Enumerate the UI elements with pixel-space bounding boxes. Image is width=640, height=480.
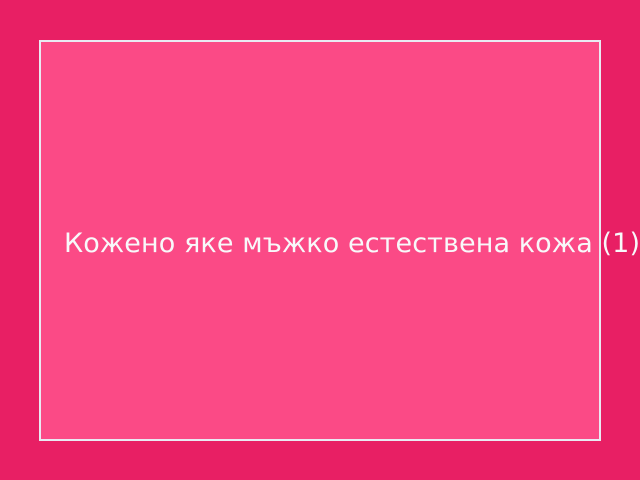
page-canvas: Кожено яке мъжко естествена кожа (1) — [0, 0, 640, 480]
caption-row: Кожено яке мъжко естествена кожа (1) — [41, 228, 599, 260]
caption-text: Кожено яке мъжко естествена кожа (1) — [41, 228, 640, 260]
content-panel: Кожено яке мъжко естествена кожа (1) — [39, 40, 601, 441]
